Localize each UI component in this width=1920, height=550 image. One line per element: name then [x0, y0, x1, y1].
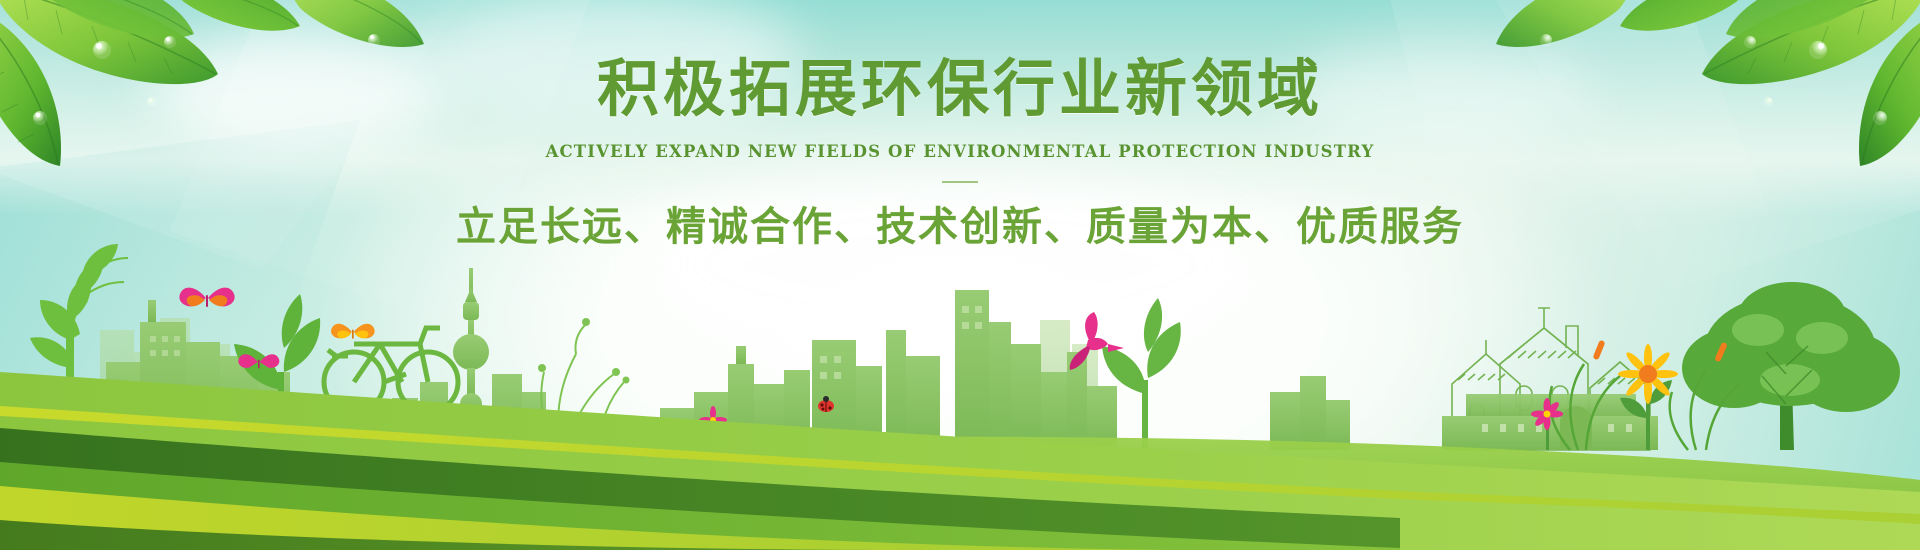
subtitle-english: ACTIVELY EXPAND NEW FIELDS OF ENVIRONMEN…: [0, 120, 1920, 161]
tagline: 立足长远、精诚合作、技术创新、质量为本、优质服务: [0, 183, 1920, 249]
page-title: 积极拓展环保行业新领域: [0, 0, 1920, 120]
eco-banner: 积极拓展环保行业新领域 ACTIVELY EXPAND NEW FIELDS O…: [0, 0, 1920, 550]
headline-block: 积极拓展环保行业新领域 ACTIVELY EXPAND NEW FIELDS O…: [0, 0, 1920, 249]
divider-dash: [942, 181, 978, 183]
